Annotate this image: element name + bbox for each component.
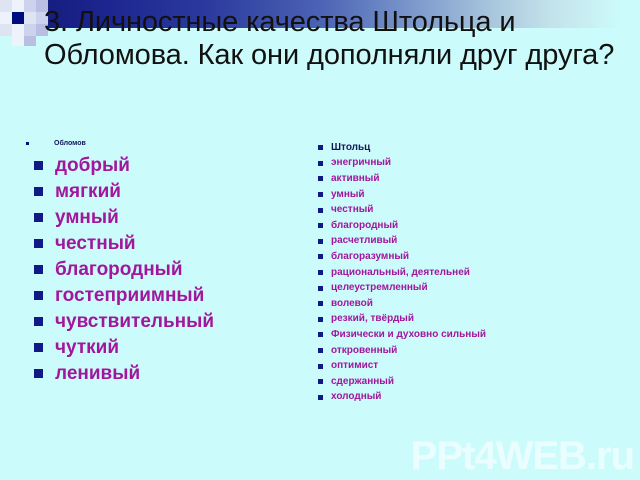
list-item-label: гостеприимный	[55, 286, 204, 305]
list-item: благородный	[26, 256, 316, 282]
list-item: благородный	[318, 218, 628, 234]
bullet-square-icon	[318, 286, 323, 291]
right-column: Штольц энегричный активный умный честный…	[318, 140, 628, 405]
list-item: откровенный	[318, 343, 628, 359]
list-item-label: добрый	[55, 156, 130, 175]
list-item: активный	[318, 171, 628, 187]
bullet-square-icon	[34, 291, 43, 300]
list-item: честный	[318, 202, 628, 218]
list-item-label: холодный	[331, 392, 381, 402]
decor-square	[24, 12, 36, 24]
list-item-label: энегричный	[331, 158, 391, 168]
bullet-square-icon	[318, 192, 323, 197]
list-item-label: целеустремленный	[331, 283, 428, 293]
bullet-square-icon	[318, 223, 323, 228]
list-item-label: чуткий	[55, 338, 119, 357]
bullet-square-icon	[318, 364, 323, 369]
bullet-square-icon	[26, 142, 29, 145]
decor-square	[24, 0, 36, 12]
bullet-square-icon	[318, 317, 323, 322]
decor-square	[12, 12, 24, 24]
right-column-header-label: Штольц	[331, 143, 370, 153]
bullet-square-icon	[34, 317, 43, 326]
bullet-square-icon	[318, 239, 323, 244]
list-item: гостеприимный	[26, 282, 316, 308]
list-item-label: чувствительный	[55, 312, 214, 331]
list-item-label: благоразумный	[331, 252, 409, 262]
bullet-square-icon	[318, 301, 323, 306]
list-item-label: умный	[55, 208, 119, 227]
list-item-label: благородный	[55, 260, 183, 279]
right-list: Штольц энегричный активный умный честный…	[318, 140, 628, 405]
list-item: честный	[26, 230, 316, 256]
list-item-label: резкий, твёрдый	[331, 314, 414, 324]
list-item-label: Физически и духовно сильный	[331, 330, 486, 340]
list-item: умный	[318, 187, 628, 203]
list-item-label: рациональный, деятельней	[331, 268, 470, 278]
decor-square	[0, 24, 12, 36]
bullet-square-icon	[34, 187, 43, 196]
list-item-label: умный	[331, 190, 365, 200]
list-item: умный	[26, 204, 316, 230]
list-item: оптимист	[318, 358, 628, 374]
list-item: расчетливый	[318, 234, 628, 250]
bullet-square-icon	[34, 369, 43, 378]
list-item-label: расчетливый	[331, 236, 397, 246]
decor-square	[24, 36, 36, 46]
bullet-square-icon	[318, 395, 323, 400]
bullet-square-icon	[318, 379, 323, 384]
bullet-square-icon	[34, 343, 43, 352]
left-list: Обломов добрый мягкий умный честный благ…	[26, 136, 316, 386]
bullet-square-icon	[318, 176, 323, 181]
list-item: ленивый	[26, 360, 316, 386]
watermark: PPt4WEB.ru	[411, 436, 634, 476]
decor-square	[0, 12, 12, 24]
list-item-label: благородный	[331, 221, 398, 231]
list-item-label: сдержанный	[331, 377, 394, 387]
list-item-label: честный	[331, 205, 373, 215]
list-item: холодный	[318, 390, 628, 406]
bullet-square-icon	[34, 161, 43, 170]
list-item: мягкий	[26, 178, 316, 204]
decor-square	[12, 0, 24, 12]
bullet-square-icon	[318, 270, 323, 275]
list-item-label: ленивый	[55, 364, 140, 383]
bullet-square-icon	[318, 208, 323, 213]
decor-square	[12, 24, 24, 36]
decor-square	[24, 24, 36, 36]
list-item: Физически и духовно сильный	[318, 327, 628, 343]
list-item-label: откровенный	[331, 346, 397, 356]
bullet-square-icon	[318, 254, 323, 259]
list-item: сдержанный	[318, 374, 628, 390]
list-item: целеустремленный	[318, 280, 628, 296]
list-item-label: честный	[55, 234, 136, 253]
list-item: благоразумный	[318, 249, 628, 265]
left-column-header-label: Обломов	[33, 140, 86, 147]
list-item: рациональный, деятельней	[318, 265, 628, 281]
list-item: энегричный	[318, 156, 628, 172]
decor-square	[0, 0, 12, 12]
list-item-label: оптимист	[331, 361, 378, 371]
bullet-square-icon	[318, 332, 323, 337]
bullet-square-icon	[318, 161, 323, 166]
slide-title: 3. Личностные качества Штольца и Обломов…	[44, 6, 634, 72]
bullet-square-icon	[34, 265, 43, 274]
list-item-label: активный	[331, 174, 380, 184]
list-item: добрый	[26, 152, 316, 178]
list-item-header-stolz: Штольц	[318, 140, 628, 156]
list-item: волевой	[318, 296, 628, 312]
decor-square	[12, 36, 24, 46]
list-item-header-oblomov: Обломов	[26, 136, 316, 150]
list-item: чуткий	[26, 334, 316, 360]
list-item-label: волевой	[331, 299, 373, 309]
bullet-square-icon	[318, 145, 323, 150]
list-item: чувствительный	[26, 308, 316, 334]
list-item: резкий, твёрдый	[318, 312, 628, 328]
slide-canvas: 3. Личностные качества Штольца и Обломов…	[0, 0, 640, 480]
list-item-label: мягкий	[55, 182, 121, 201]
left-column: Обломов добрый мягкий умный честный благ…	[26, 136, 316, 386]
bullet-square-icon	[34, 213, 43, 222]
bullet-square-icon	[34, 239, 43, 248]
bullet-square-icon	[318, 348, 323, 353]
